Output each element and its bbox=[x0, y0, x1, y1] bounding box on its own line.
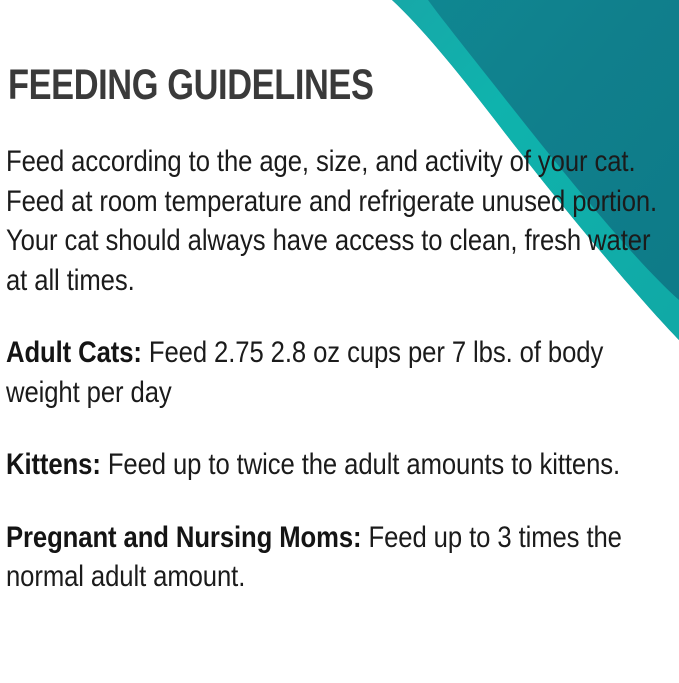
page-title: FEEDING GUIDELINES bbox=[8, 64, 374, 107]
section-kittens: Kittens: Feed up to twice the adult amou… bbox=[6, 445, 669, 485]
section-adult-cats: Adult Cats: Feed 2.75 2.8 oz cups per 7 … bbox=[6, 333, 669, 412]
body-text: Feed according to the age, size, and act… bbox=[6, 142, 671, 597]
feeding-guidelines-panel: FEEDING GUIDELINES Feed according to the… bbox=[0, 0, 679, 683]
section-pregnant-nursing-moms: Pregnant and Nursing Moms: Feed up to 3 … bbox=[6, 518, 669, 597]
section-label-adult-cats: Adult Cats: bbox=[6, 336, 142, 369]
intro-paragraph: Feed according to the age, size, and act… bbox=[6, 142, 669, 300]
section-label-kittens: Kittens: bbox=[6, 448, 101, 481]
section-label-pregnant-nursing-moms: Pregnant and Nursing Moms: bbox=[6, 521, 361, 554]
section-text-kittens: Feed up to twice the adult amounts to ki… bbox=[101, 448, 620, 481]
